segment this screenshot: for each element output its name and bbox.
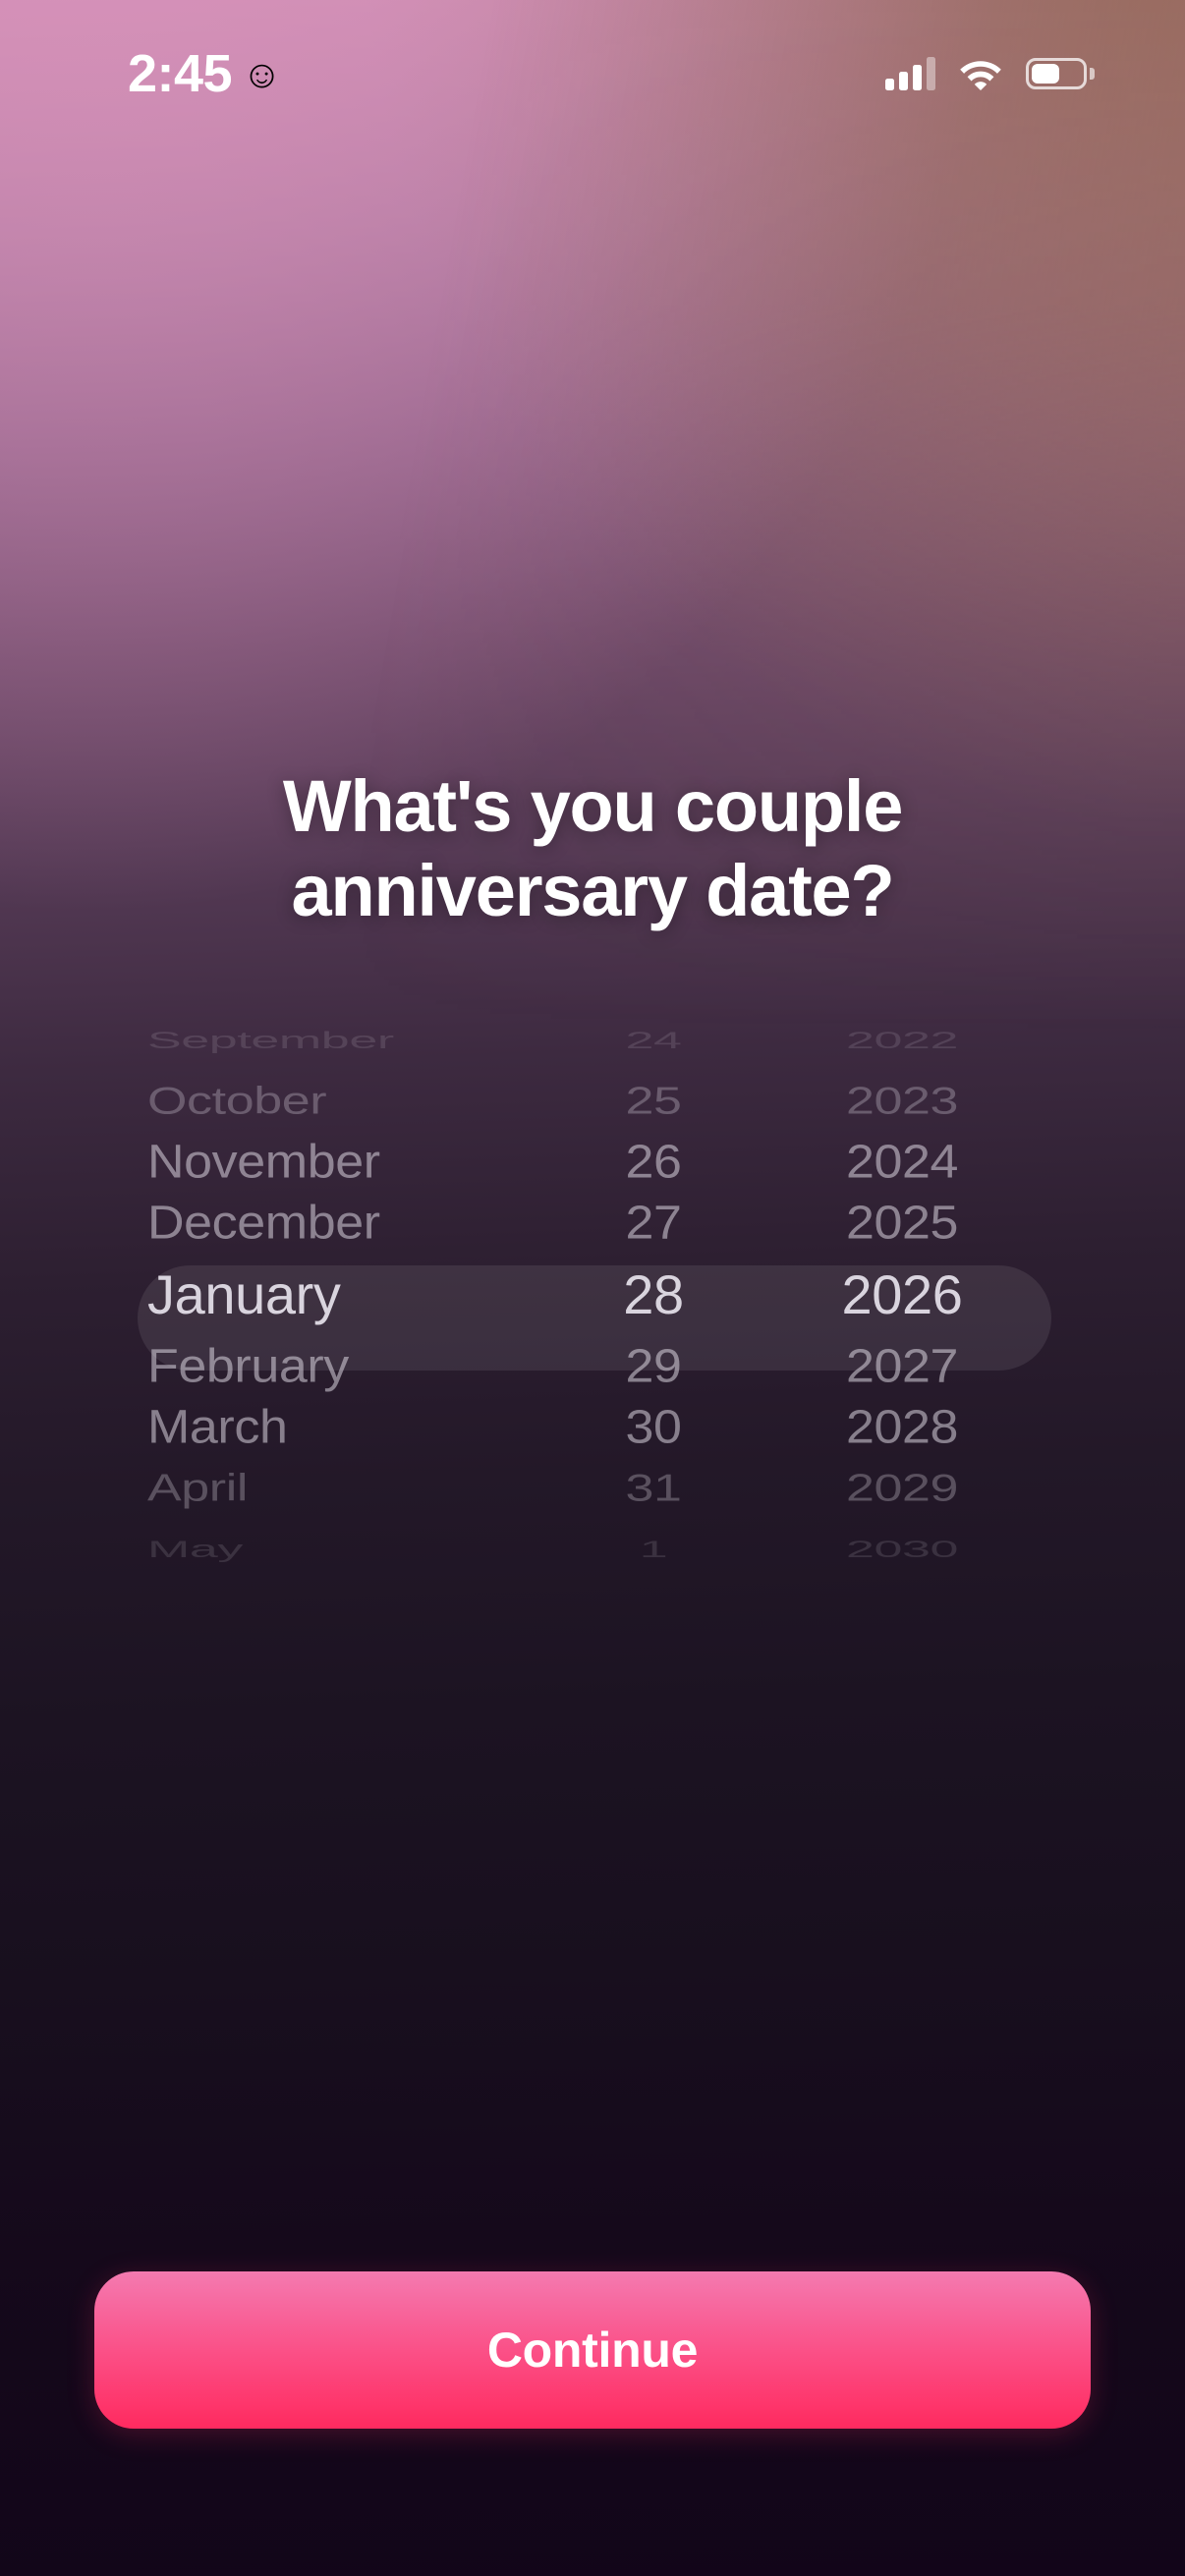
smiley-face-icon: ☺ (242, 55, 282, 94)
picker-year-cell[interactable]: 2029 (766, 1470, 1038, 1507)
picker-day-label: 29 (540, 1343, 766, 1390)
picker-year-cell[interactable]: 2026 (766, 1267, 1038, 1322)
picker-month-label: February (147, 1343, 540, 1390)
picker-month-label: September (147, 1029, 540, 1052)
status-bar-clock: 2:45 (128, 47, 232, 100)
status-bar-left: 2:45 ☺ (128, 47, 282, 100)
picker-year-cell[interactable]: 2030 (766, 1538, 1038, 1561)
picker-row[interactable]: April312029 (0, 1466, 1185, 1511)
battery-nub (1090, 68, 1095, 80)
battery-icon (1026, 58, 1095, 89)
picker-row[interactable]: February292027 (0, 1338, 1185, 1394)
picker-year-cell[interactable]: 2023 (766, 1083, 1038, 1120)
picker-day-cell[interactable]: 24 (540, 1029, 766, 1052)
picker-year-label: 2023 (766, 1083, 1038, 1120)
picker-year-cell[interactable]: 2024 (766, 1139, 1038, 1186)
picker-row[interactable]: March302028 (0, 1399, 1185, 1455)
picker-year-label: 2022 (766, 1029, 1038, 1052)
picker-day-cell[interactable]: 31 (540, 1470, 766, 1507)
picker-day-label: 30 (540, 1404, 766, 1451)
picker-month-cell[interactable]: October (147, 1083, 540, 1120)
picker-day-cell[interactable]: 28 (540, 1267, 766, 1322)
picker-month-label: May (147, 1538, 540, 1561)
phone-screen: 2:45 ☺ What's you couple anniversary dat… (0, 0, 1185, 2576)
picker-year-label: 2026 (766, 1267, 1038, 1322)
picker-year-cell[interactable]: 2027 (766, 1343, 1038, 1390)
picker-day-label: 26 (540, 1139, 766, 1186)
picker-day-cell[interactable]: 27 (540, 1200, 766, 1247)
picker-month-label: December (147, 1200, 540, 1247)
picker-day-cell[interactable]: 29 (540, 1343, 766, 1390)
picker-month-label: January (147, 1267, 540, 1322)
picker-month-label: April (147, 1470, 540, 1507)
picker-year-label: 2025 (766, 1200, 1038, 1247)
picker-day-cell[interactable]: 25 (540, 1083, 766, 1120)
picker-month-cell[interactable]: February (147, 1343, 540, 1390)
picker-rows[interactable]: September242022October252023November2620… (0, 1010, 1185, 1580)
picker-month-label: October (147, 1083, 540, 1120)
picker-year-cell[interactable]: 2022 (766, 1029, 1038, 1052)
picker-month-label: November (147, 1139, 540, 1186)
picker-month-cell[interactable]: May (147, 1538, 540, 1561)
status-bar-right (885, 57, 1095, 90)
picker-year-label: 2024 (766, 1139, 1038, 1186)
picker-row[interactable]: May12030 (0, 1536, 1185, 1564)
continue-button[interactable]: Continue (94, 2271, 1091, 2429)
picker-month-cell[interactable]: December (147, 1200, 540, 1247)
picker-day-label: 27 (540, 1200, 766, 1247)
picker-month-cell[interactable]: September (147, 1029, 540, 1052)
picker-day-label: 28 (540, 1267, 766, 1322)
picker-day-cell[interactable]: 1 (540, 1538, 766, 1561)
picker-month-cell[interactable]: November (147, 1139, 540, 1186)
picker-day-label: 1 (540, 1538, 766, 1561)
picker-year-label: 2027 (766, 1343, 1038, 1390)
battery-level-fill (1032, 64, 1059, 84)
battery-shell (1026, 58, 1087, 89)
picker-month-cell[interactable]: April (147, 1470, 540, 1507)
picker-day-cell[interactable]: 26 (540, 1139, 766, 1186)
picker-month-cell[interactable]: January (147, 1267, 540, 1322)
status-bar: 2:45 ☺ (0, 0, 1185, 147)
picker-year-label: 2029 (766, 1470, 1038, 1507)
picker-year-cell[interactable]: 2028 (766, 1404, 1038, 1451)
picker-row[interactable]: October252023 (0, 1079, 1185, 1124)
picker-day-label: 24 (540, 1029, 766, 1052)
picker-year-label: 2028 (766, 1404, 1038, 1451)
picker-month-label: March (147, 1404, 540, 1451)
picker-day-cell[interactable]: 30 (540, 1404, 766, 1451)
picker-day-label: 25 (540, 1083, 766, 1120)
page-title: What's you couple anniversary date? (0, 764, 1185, 933)
picker-row[interactable]: November262024 (0, 1135, 1185, 1191)
anniversary-date-picker[interactable]: September242022October252023November2620… (0, 1010, 1185, 1580)
picker-row-selected[interactable]: January282026 (0, 1254, 1185, 1335)
picker-day-label: 31 (540, 1470, 766, 1507)
picker-row[interactable]: September242022 (0, 1027, 1185, 1055)
picker-row[interactable]: December272025 (0, 1196, 1185, 1252)
wifi-icon (959, 57, 1002, 90)
picker-month-cell[interactable]: March (147, 1404, 540, 1451)
cellular-signal-icon (885, 57, 935, 90)
picker-year-label: 2030 (766, 1538, 1038, 1561)
picker-year-cell[interactable]: 2025 (766, 1200, 1038, 1247)
